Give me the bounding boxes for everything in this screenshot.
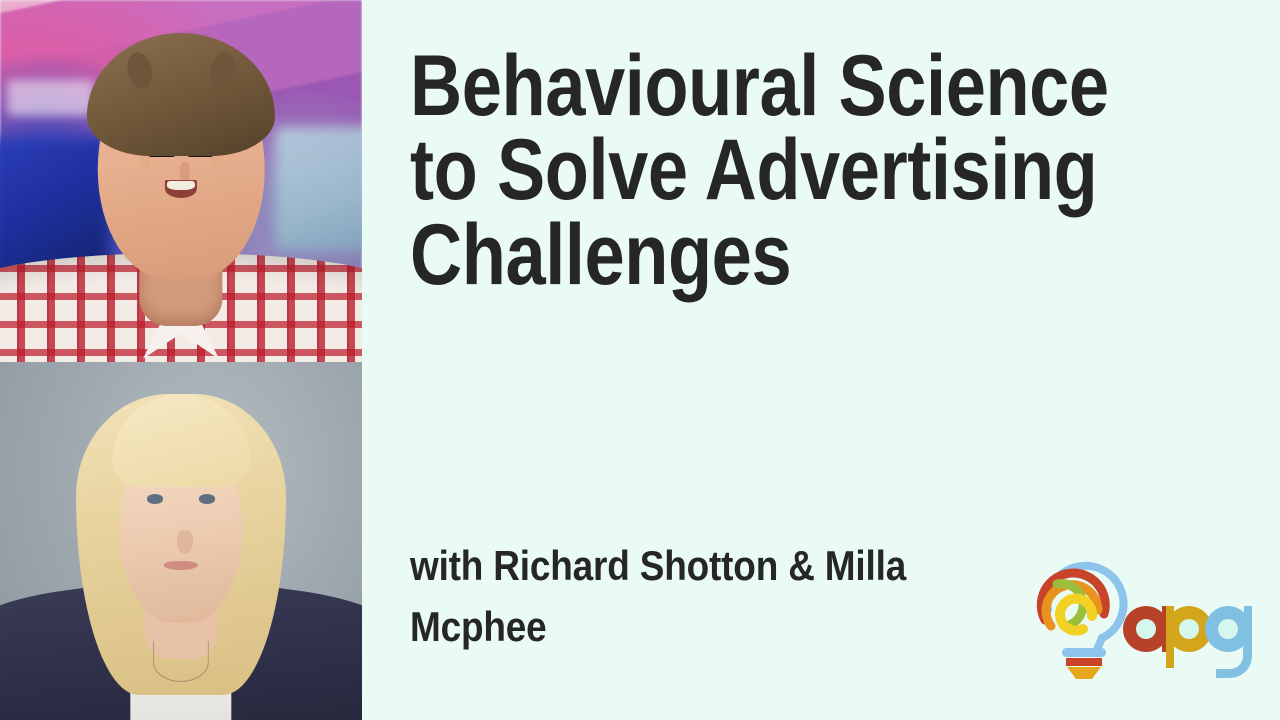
- letter-a: [1123, 606, 1170, 652]
- speaker-photo-richard-shotton: [0, 0, 362, 362]
- speaker-photo-milla-mcphee: [0, 362, 362, 720]
- eye-left: [147, 494, 164, 503]
- lightbulb-icon: [1041, 566, 1123, 652]
- speaker-photo-column: [0, 0, 362, 720]
- presentation-slide: Behavioural Science to Solve Advertising…: [0, 0, 1280, 720]
- eye-right: [199, 494, 216, 503]
- slide-content: Behavioural Science to Solve Advertising…: [362, 0, 1280, 720]
- teeth: [167, 181, 195, 190]
- apg-logo: [1026, 534, 1256, 684]
- apg-wordmark: [1123, 606, 1252, 678]
- background-screen-teal: [275, 127, 362, 250]
- hair-side-right: [208, 50, 240, 91]
- lightbulb-base-icon: [1062, 648, 1106, 679]
- mouth: [165, 180, 197, 198]
- presenter-credits: with Richard Shotton & Milla Mcphee: [410, 536, 938, 658]
- background-highlight: [7, 80, 94, 116]
- hair-side-left: [125, 50, 157, 91]
- slide-title: Behavioural Science to Solve Advertising…: [410, 44, 1121, 297]
- letter-p: [1166, 606, 1212, 668]
- nose: [177, 530, 193, 553]
- letter-g: [1205, 606, 1252, 678]
